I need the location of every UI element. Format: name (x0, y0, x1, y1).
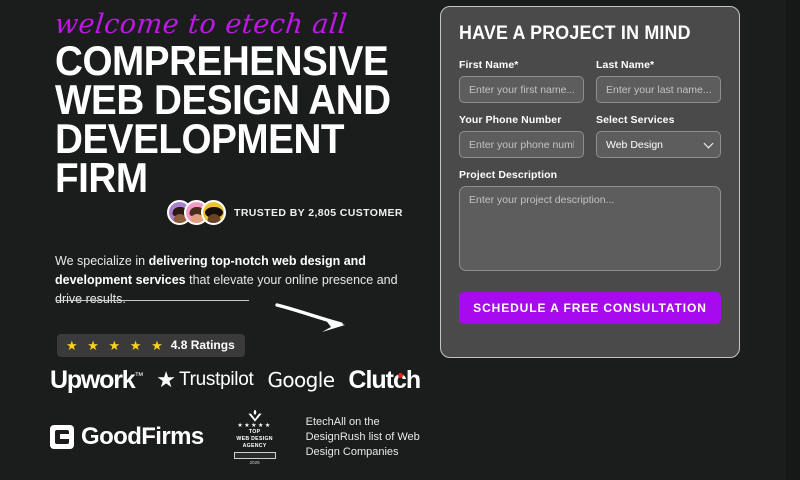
upwork-trademark: ™ (134, 370, 142, 380)
last-name-label: Last Name* (596, 59, 721, 71)
trustpilot-star-icon: ★ (156, 369, 176, 391)
services-label: Select Services (596, 114, 721, 126)
description-field-group: Project Description (459, 169, 721, 276)
first-name-input[interactable] (459, 76, 584, 103)
award-year: 2025 (249, 460, 259, 466)
first-name-field-group: First Name* (459, 59, 584, 103)
headline-line-4: FIRM (55, 158, 382, 197)
headline-line-3: DEVELOPMENT (55, 119, 382, 158)
designrush-caption: EtechAll on the DesignRush list of Web D… (306, 415, 420, 460)
trustpilot-logo: ★ Trustpilot (156, 369, 253, 391)
form-row-phone-services: Your Phone Number Select Services Web De… (459, 114, 721, 158)
contact-form-panel: HAVE A PROJECT IN MIND First Name* Last … (440, 6, 740, 358)
schedule-consultation-button[interactable]: Schedule A Free Consultation (459, 292, 721, 324)
hero-page: welcome to etech all COMPREHENSIVE WEB D… (0, 0, 800, 480)
services-field-group: Select Services Web DesignWeb Developmen… (596, 114, 721, 158)
trustpilot-logo-text: Trustpilot (179, 369, 253, 391)
phone-field-group: Your Phone Number (459, 114, 584, 158)
form-row-names: First Name* Last Name* (459, 59, 721, 103)
last-name-input[interactable] (596, 76, 721, 103)
window-edge-strip (786, 0, 800, 480)
first-name-label: First Name* (459, 59, 584, 71)
trusted-by-label: TRUSTED BY 2,805 CUSTOMER (234, 207, 403, 219)
award-line-3: AGENCY (243, 443, 267, 450)
top-web-design-agency-badge: ★★★★★ TOP WEB DESIGN AGENCY 2025 (226, 408, 284, 466)
section-divider (56, 300, 249, 301)
award-laurel-icon (242, 409, 268, 422)
google-logo: Google (267, 368, 334, 392)
upwork-logo: Upwork™ (50, 366, 142, 395)
partner-logos-row-2: GoodFirms ★★★★★ TOP WEB DESIGN AGENCY 20… (50, 406, 420, 468)
clutch-logo-text: Clutch (348, 366, 420, 394)
award-ribbon (234, 452, 276, 459)
star-rating-icon: ★ ★ ★ ★ ★ (66, 339, 166, 352)
subcopy-lead: We specialize in (55, 254, 149, 268)
services-select[interactable]: Web DesignWeb DevelopmentMobile App Deve… (596, 131, 721, 158)
award-line-2: WEB DESIGN (236, 436, 272, 443)
phone-input[interactable] (459, 131, 584, 158)
pointer-arrow-icon (275, 300, 355, 335)
avatar (201, 200, 226, 225)
goodfirms-logo: GoodFirms (50, 423, 204, 451)
headline-line-2: WEB DESIGN AND (55, 80, 382, 119)
trusted-by-group: TRUSTED BY 2,805 CUSTOMER (167, 200, 403, 225)
services-select-wrapper: Web DesignWeb DevelopmentMobile App Deve… (596, 131, 721, 158)
upwork-logo-text: Upwork (50, 366, 134, 394)
goodfirms-logo-text: GoodFirms (81, 423, 204, 451)
goodfirms-mark-icon (50, 425, 74, 449)
clutch-dot-icon (398, 373, 403, 378)
headline-line-1: COMPREHENSIVE (55, 41, 382, 80)
form-title: HAVE A PROJECT IN MIND (459, 23, 705, 45)
page-title: COMPREHENSIVE WEB DESIGN AND DEVELOPMENT… (55, 41, 382, 197)
award-line-1: TOP (249, 429, 260, 436)
avatar-stack (167, 200, 226, 225)
rating-badge: ★ ★ ★ ★ ★ 4.8 Ratings (57, 334, 245, 357)
partner-logos-row-1: Upwork™ ★ Trustpilot Google Clutch (50, 363, 410, 397)
phone-label: Your Phone Number (459, 114, 584, 126)
description-label: Project Description (459, 169, 721, 181)
clutch-logo: Clutch (348, 366, 420, 395)
last-name-field-group: Last Name* (596, 59, 721, 103)
description-textarea[interactable] (459, 186, 721, 271)
rating-label: 4.8 Ratings (171, 338, 235, 352)
